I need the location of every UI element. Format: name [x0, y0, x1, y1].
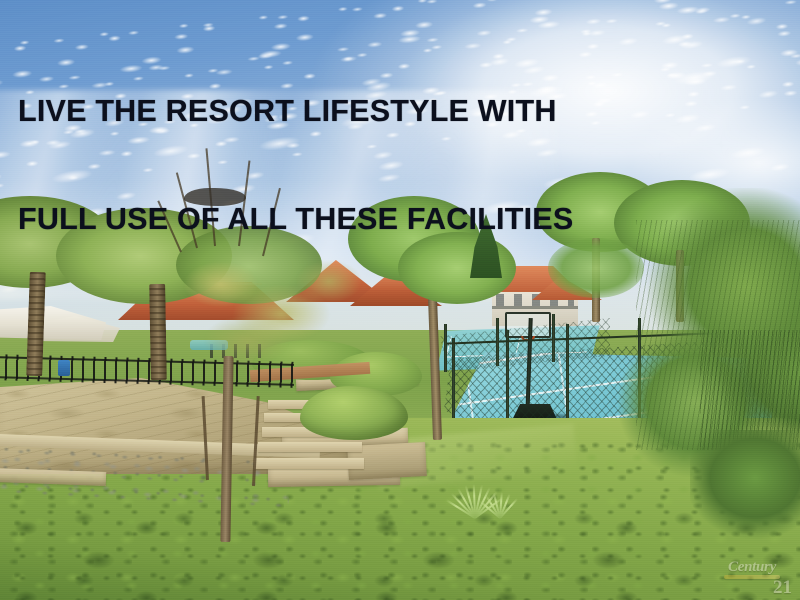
fence-post-far [552, 314, 555, 362]
photo-canvas: LIVE THE RESORT LIFESTYLE WITH FULL USE … [0, 0, 800, 600]
foreground-scrub-shadow-texture [0, 500, 800, 600]
step [258, 442, 362, 452]
step [254, 458, 364, 469]
fan-palm-shrub-secondary [476, 490, 522, 518]
headline-line-2: FULL USE OF ALL THESE FACILITIES [18, 201, 573, 237]
headline-overlay: LIVE THE RESORT LIFESTYLE WITH FULL USE … [18, 21, 573, 309]
fence-post-far [444, 324, 447, 372]
fence-post-far [496, 318, 499, 366]
blue-bin [58, 360, 70, 376]
vegetation-bank-far-right-bottom [690, 430, 800, 550]
headline-line-1: LIVE THE RESORT LIFESTYLE WITH [18, 93, 573, 129]
